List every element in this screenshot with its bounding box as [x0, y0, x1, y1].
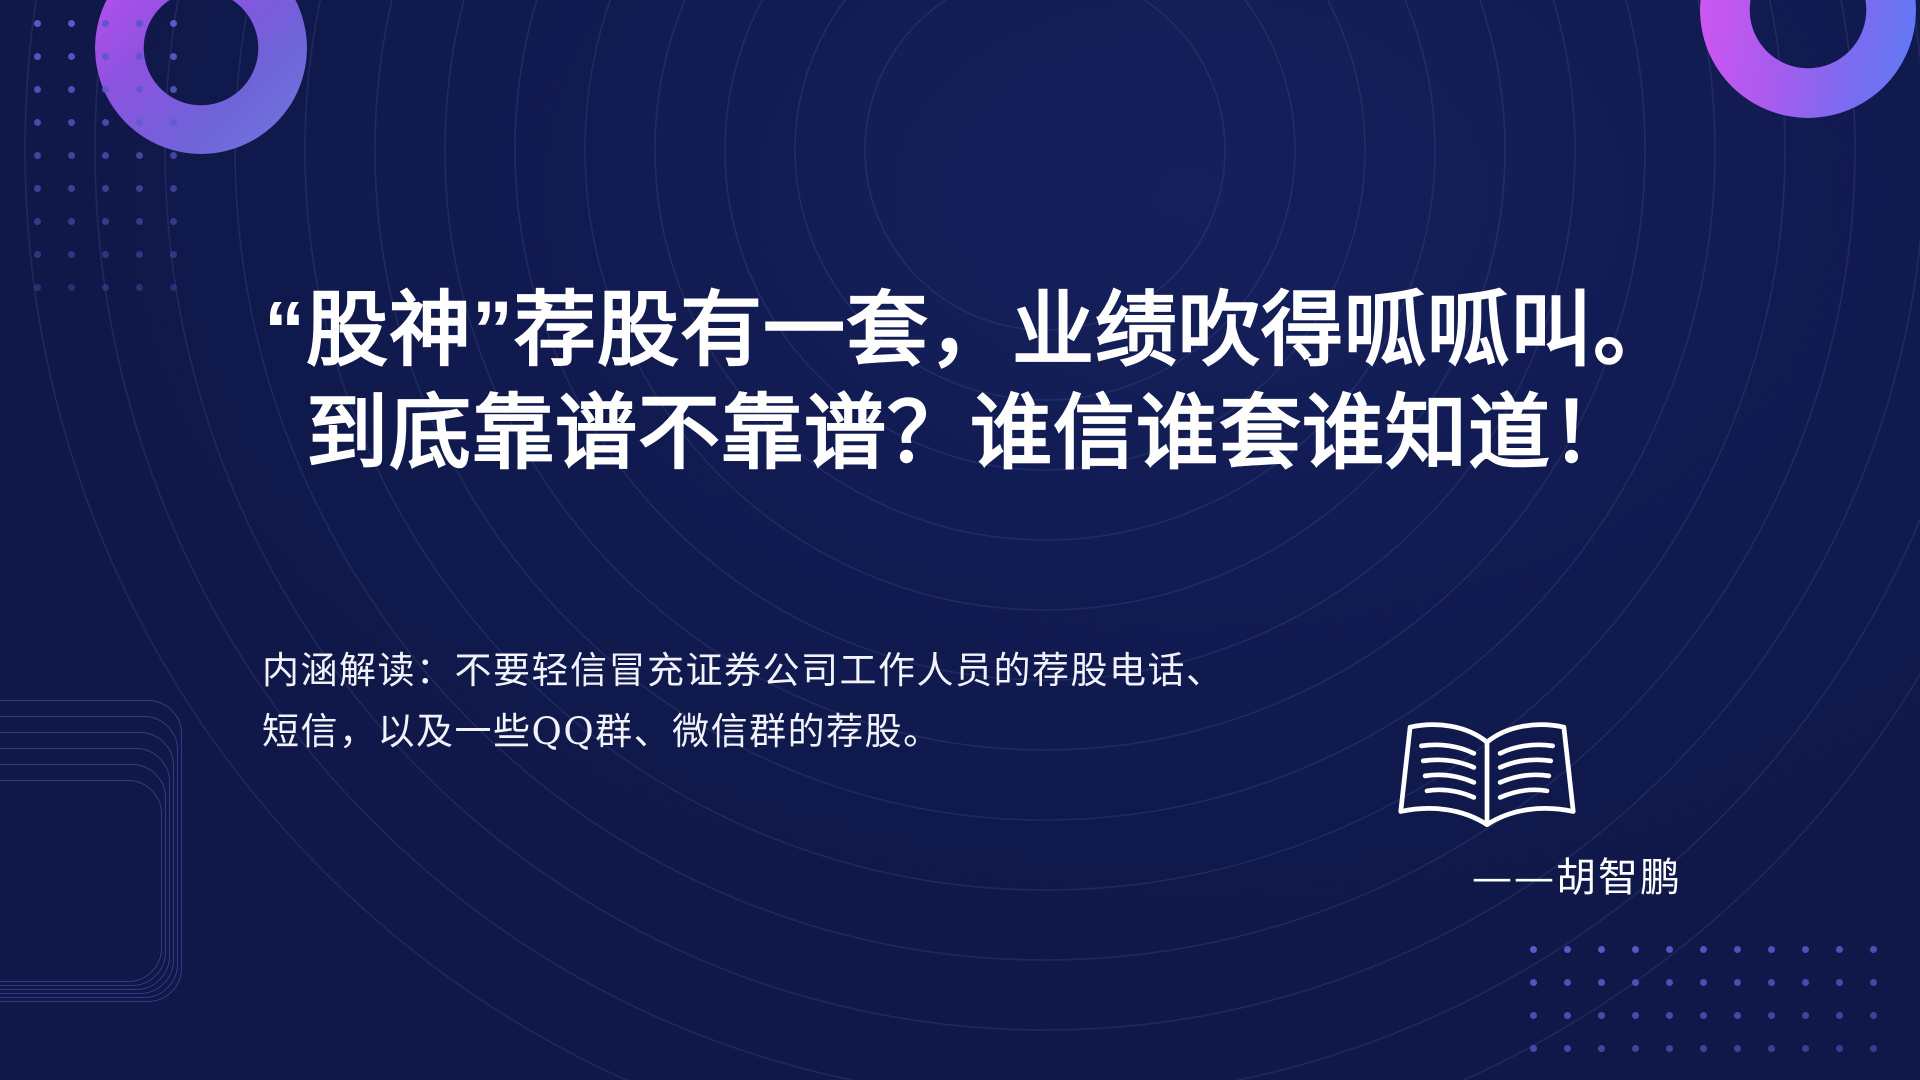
slide-body-text: 内涵解读：不要轻信冒充证券公司工作人员的荐股电话、 短信，以及一些QQ群、微信群…	[262, 640, 1682, 762]
title-line-1: “股神”荐股有一套，业绩吹得呱呱叫。	[140, 280, 1800, 383]
title-line-2: 到底靠谱不靠谱？谁信谁套谁知道！	[140, 383, 1800, 486]
body-line-1: 内涵解读：不要轻信冒充证券公司工作人员的荐股电话、	[262, 640, 1682, 701]
slide-canvas: “股神”荐股有一套，业绩吹得呱呱叫。 到底靠谱不靠谱？谁信谁套谁知道！ 内涵解读…	[0, 0, 1920, 1080]
body-line-2: 短信，以及一些QQ群、微信群的荐股。	[262, 701, 1682, 762]
attribution-text: ——胡智鹏	[262, 845, 1920, 903]
slide-title: “股神”荐股有一套，业绩吹得呱呱叫。 到底靠谱不靠谱？谁信谁套谁知道！	[140, 280, 1800, 485]
